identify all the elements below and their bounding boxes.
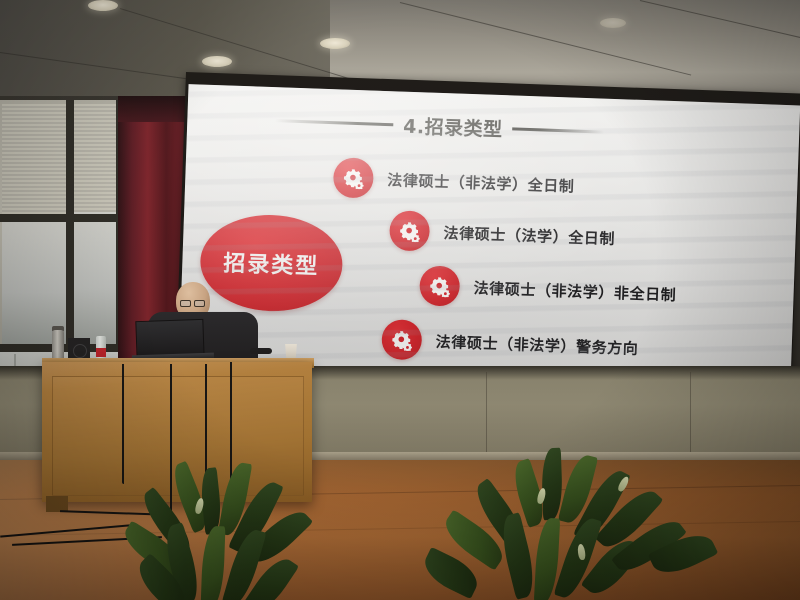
list-item: 法律硕士（法学）全日制 (389, 210, 616, 258)
microphone (250, 348, 272, 354)
title-rule-right (513, 127, 605, 133)
glasses-icon (180, 300, 191, 307)
potted-plant (140, 462, 370, 600)
hub-label: 招录类型 (223, 245, 320, 280)
bullet-label: 法律硕士（法学）全日制 (443, 222, 615, 249)
list-item: 法律硕士（非法学）非全日制 (419, 265, 677, 314)
downlight-icon (88, 0, 118, 11)
list-item: 法律硕士（非法学）警务方向 (381, 319, 639, 368)
window-mullion (66, 100, 74, 350)
downlight-icon (320, 38, 350, 49)
gear-icon (389, 210, 430, 251)
projection-screen: 4.招录类型 招录类型 法律硕士（非法 (176, 72, 800, 389)
hub-ellipse: 招录类型 (199, 213, 344, 314)
window-blind (2, 104, 68, 222)
downlight-icon (600, 18, 626, 28)
bottle-label (96, 348, 106, 357)
glasses-icon (194, 300, 205, 307)
list-item: 法律硕士（非法学）全日制 (333, 157, 575, 205)
bullet-label: 法律硕士（非法学）非全日制 (473, 277, 676, 305)
potted-plant (430, 448, 730, 600)
slide-title-row: 4.招录类型 (275, 105, 706, 150)
window-blind (74, 104, 118, 212)
wall-panel-seam (690, 372, 691, 456)
gear-icon (333, 157, 374, 198)
lecture-hall-photo: 4.招录类型 招录类型 法律硕士（非法 (0, 0, 800, 600)
slide-surface: 4.招录类型 招录类型 法律硕士（非法 (179, 84, 800, 387)
title-rule-left (275, 119, 393, 126)
wall-panel-seam (486, 372, 487, 456)
downlight-icon (202, 56, 232, 67)
gear-icon (381, 319, 422, 360)
window-glass (74, 212, 118, 350)
cable (122, 364, 124, 484)
bullet-label: 法律硕士（非法学）全日制 (387, 169, 575, 197)
bullet-label: 法律硕士（非法学）警务方向 (435, 330, 638, 358)
gear-icon (419, 265, 460, 306)
page-title: 4.招录类型 (403, 111, 503, 141)
